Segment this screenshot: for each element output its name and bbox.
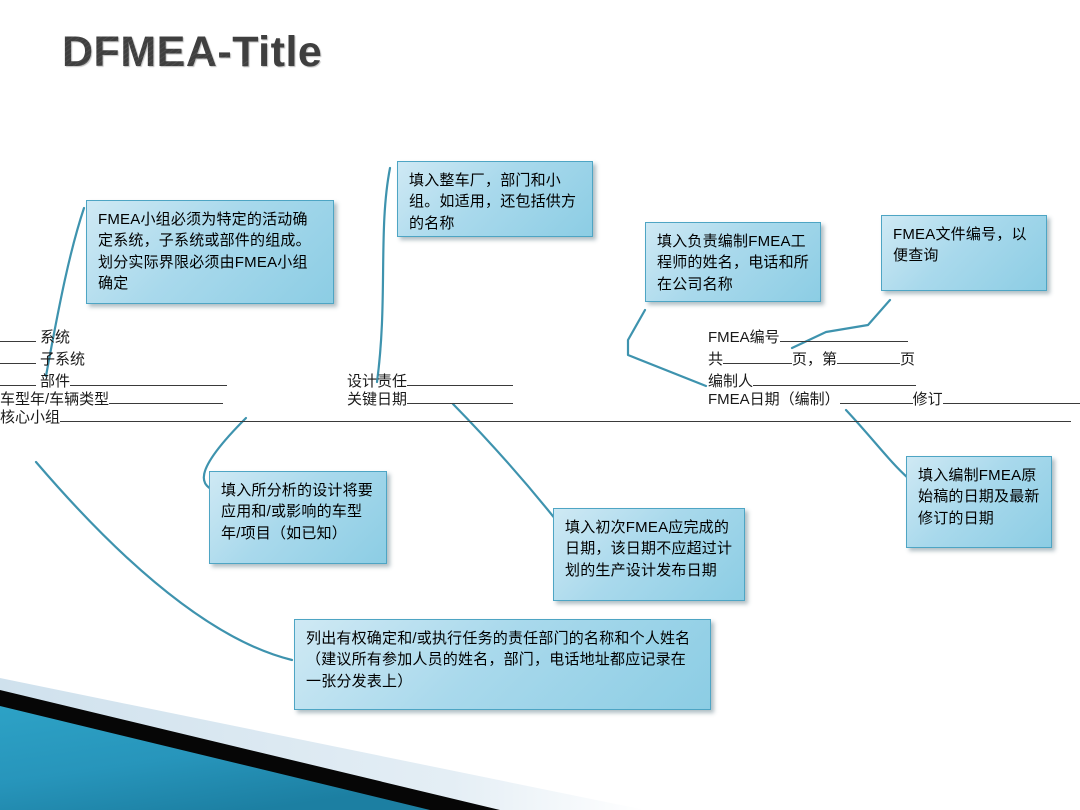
- form-row-prepared-by[interactable]: 编制人: [708, 374, 916, 389]
- callout-oem-dept[interactable]: 填入整车厂，部门和小组。如适用，还包括供方的名称: [397, 161, 593, 237]
- form-label-page-total: 共: [708, 352, 723, 367]
- form-label-subsystem: 子系统: [40, 352, 85, 367]
- callout-prepared-date[interactable]: 填入编制FMEA原始稿的日期及最新修订的日期: [906, 456, 1052, 548]
- form-label-model-year: 车型年/车辆类型: [0, 392, 109, 407]
- decorative-bands: [0, 630, 1080, 810]
- callout-model-year[interactable]: 填入所分析的设计将要应用和/或影响的车型年/项目（如已知）: [209, 471, 387, 564]
- page-index-value-rule[interactable]: [837, 352, 900, 364]
- connector-engineer-info: [628, 310, 706, 386]
- revision-value-rule[interactable]: [943, 392, 1080, 404]
- form-row-model-year[interactable]: 车型年/车辆类型: [0, 392, 223, 407]
- fmea-number-value-rule[interactable]: [780, 330, 908, 342]
- page-total-value-rule[interactable]: [723, 352, 792, 364]
- form-row-design-responsibility[interactable]: 设计责任: [347, 374, 513, 389]
- form-label-fmea-date: FMEA日期（编制）: [708, 392, 840, 407]
- form-label-prepared-by: 编制人: [708, 374, 753, 389]
- callout-engineer-info[interactable]: 填入负责编制FMEA工程师的姓名，电话和所在公司名称: [645, 222, 821, 302]
- form-label-page-unit: 页: [900, 352, 915, 367]
- form-row-system[interactable]: 系统: [0, 330, 70, 345]
- prepared-by-value-rule[interactable]: [753, 374, 916, 386]
- callout-key-date[interactable]: 填入初次FMEA应完成的日期，该日期不应超过计划的生产设计发布日期: [553, 508, 745, 601]
- component-value-rule[interactable]: [70, 374, 227, 386]
- form-label-page-of: 页，第: [792, 352, 837, 367]
- form-label-fmea-number: FMEA编号: [708, 330, 780, 345]
- form-label-component: 部件: [40, 374, 70, 389]
- form-row-core-team[interactable]: 核心小组: [0, 410, 1071, 425]
- form-label-core-team: 核心小组: [0, 410, 60, 425]
- slide-canvas: DFMEA-Title 系统 子系统 部件 车型: [0, 0, 1080, 810]
- form-label-key-date: 关键日期: [347, 392, 407, 407]
- subsystem-rule: [0, 352, 36, 364]
- callout-team-scope[interactable]: FMEA小组必须为特定的活动确定系统，子系统或部件的组成。划分实际界限必须由FM…: [86, 200, 334, 304]
- form-row-subsystem[interactable]: 子系统: [0, 352, 85, 367]
- core-team-value-rule[interactable]: [60, 410, 1071, 422]
- system-rule: [0, 330, 36, 342]
- connector-oem-dept: [377, 168, 390, 382]
- component-rule: [0, 374, 36, 386]
- key-date-value-rule[interactable]: [407, 392, 513, 404]
- fmea-date-value-rule[interactable]: [840, 392, 913, 404]
- form-label-design-responsibility: 设计责任: [347, 374, 407, 389]
- form-row-page-count[interactable]: 共页，第页: [708, 352, 915, 367]
- page-title: DFMEA-Title: [62, 28, 322, 77]
- form-row-fmea-date[interactable]: FMEA日期（编制）修订: [708, 392, 1080, 407]
- form-row-key-date[interactable]: 关键日期: [347, 392, 513, 407]
- form-row-component[interactable]: 部件: [0, 374, 227, 389]
- form-label-revision: 修订: [913, 392, 943, 407]
- form-label-system: 系统: [40, 330, 70, 345]
- form-row-fmea-number[interactable]: FMEA编号: [708, 330, 908, 345]
- callout-fmea-number[interactable]: FMEA文件编号，以便查询: [881, 215, 1047, 291]
- model-year-value-rule[interactable]: [109, 392, 223, 404]
- design-responsibility-value-rule[interactable]: [407, 374, 513, 386]
